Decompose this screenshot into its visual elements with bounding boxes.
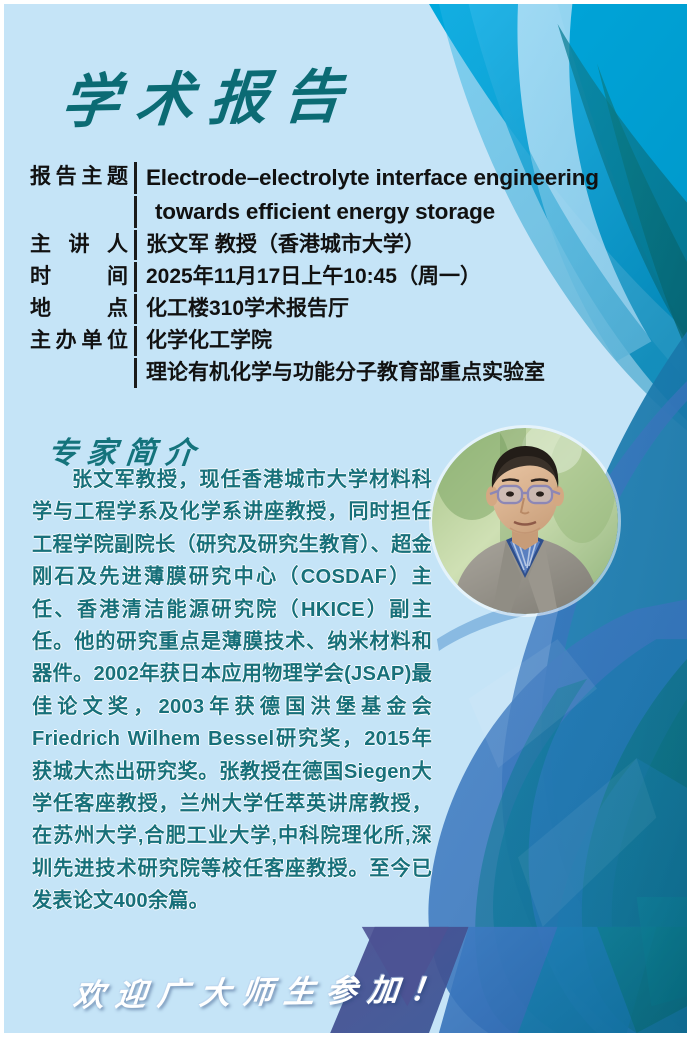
speaker-portrait-photo	[432, 428, 618, 614]
info-value-location: 化工楼310学术报告厅	[134, 294, 675, 324]
info-label-topic: 报告主题	[30, 162, 134, 192]
info-label-speaker: 主讲人	[30, 230, 134, 260]
table-row: 主讲人 张文军 教授（香港城市大学）	[30, 230, 675, 260]
info-value-organizer-line1: 化学化工学院	[134, 326, 675, 356]
speaker-biography: 张文军教授，现任香港城市大学材料科学与工程学系及化学系讲座教授，同时担任工程学院…	[32, 464, 432, 918]
table-row: 理论有机化学与功能分子教育部重点实验室	[30, 358, 675, 388]
academic-lecture-poster: 学术报告 报告主题 Electrode–electrolyte interfac…	[0, 0, 691, 1037]
table-row: 时间 2025年11月17日上午10:45（周一）	[30, 262, 675, 292]
table-row: 报告主题 Electrode–electrolyte interface eng…	[30, 162, 675, 194]
page-title: 学术报告	[58, 49, 362, 139]
table-row: towards efficient energy storage	[30, 196, 675, 228]
info-value-time: 2025年11月17日上午10:45（周一）	[134, 262, 675, 292]
table-row: 主办单位 化学化工学院	[30, 326, 675, 356]
info-label-organizer: 主办单位	[30, 326, 134, 356]
info-label-time: 时间	[30, 262, 134, 292]
portrait-image	[432, 428, 618, 614]
lecture-info-table: 报告主题 Electrode–electrolyte interface eng…	[30, 162, 675, 390]
welcome-banner: 欢迎广大师生参加！	[71, 964, 454, 1016]
info-value-topic-line2: towards efficient energy storage	[134, 196, 675, 228]
info-label-location: 地点	[30, 294, 134, 324]
table-row: 地点 化工楼310学术报告厅	[30, 294, 675, 324]
info-value-organizer-line2: 理论有机化学与功能分子教育部重点实验室	[134, 358, 675, 388]
info-value-topic-line1: Electrode–electrolyte interface engineer…	[134, 162, 675, 194]
info-value-speaker: 张文军 教授（香港城市大学）	[134, 230, 675, 260]
bio-paragraph-text: 张文军教授，现任香港城市大学材料科学与工程学系及化学系讲座教授，同时担任工程学院…	[32, 469, 432, 912]
